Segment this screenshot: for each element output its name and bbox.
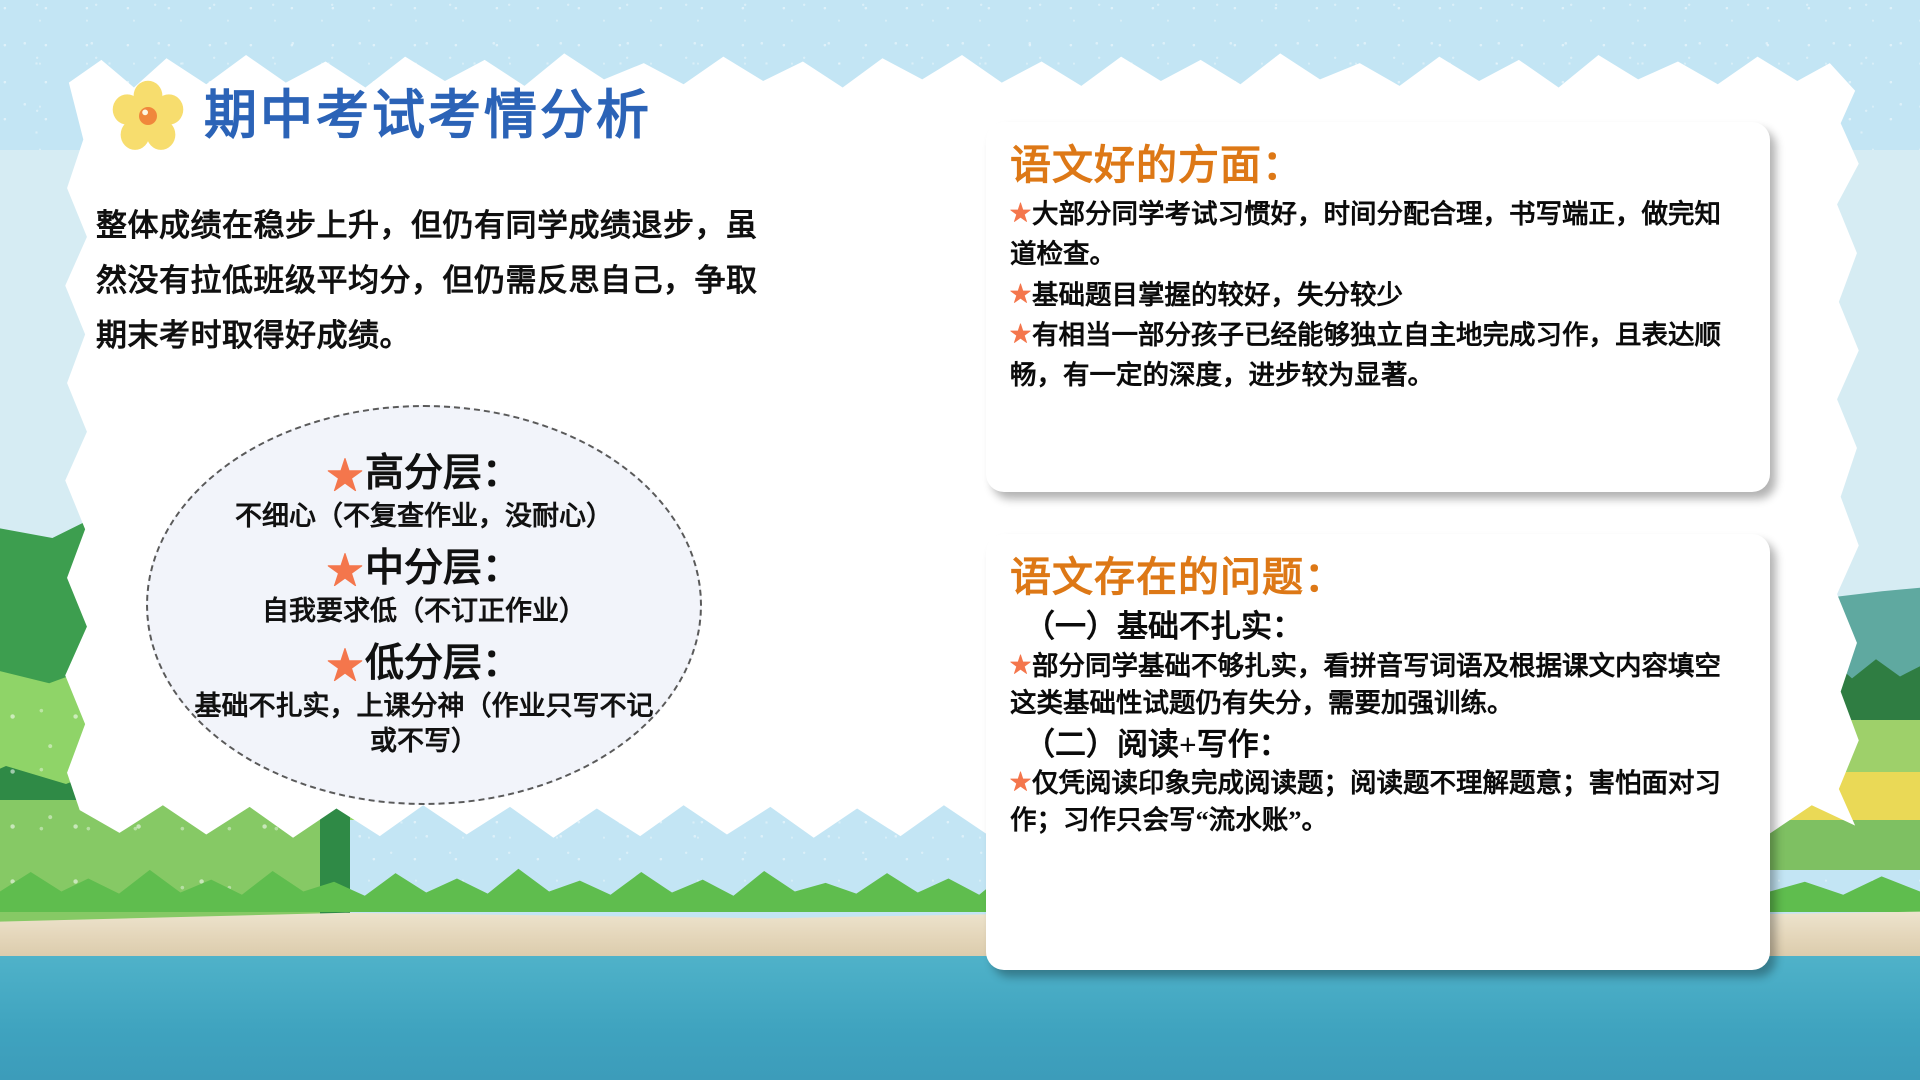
tier-desc-low: 基础不扎实，上课分神（作业只写不记或不写）: [189, 689, 659, 759]
card-strengths: 语文好的方面： ★大部分同学考试习惯好，时间分配合理，书写端正，做完知道检查。 …: [986, 122, 1770, 492]
star-icon: ★: [327, 553, 363, 589]
bullet-strengths-2: ★基础题目掌握的较好，失分较少: [1010, 275, 1744, 315]
bullet-text: 基础题目掌握的较好，失分较少: [1032, 280, 1403, 310]
subsection-heading-1: （一）基础不扎实：: [1010, 606, 1744, 648]
tier-desc-high: 不细心（不复查作业，没耐心）: [235, 499, 613, 534]
star-icon: ★: [1010, 770, 1031, 794]
tier-heading-high: ★ 高分层：: [327, 451, 521, 497]
bullet-text: 大部分同学考试习惯好，时间分配合理，书写端正，做完知道检查。: [1010, 199, 1721, 269]
star-icon: ★: [1010, 322, 1031, 346]
tier-heading-label: 高分层：: [365, 451, 521, 497]
bullet-strengths-3: ★有相当一部分孩子已经能够独立自主地完成习作，且表达顺畅，有一定的深度，进步较为…: [1010, 315, 1744, 396]
tier-heading-low: ★ 低分层：: [327, 641, 521, 687]
star-icon: ★: [1010, 201, 1031, 225]
bullet-text: 有相当一部分孩子已经能够独立自主地完成习作，且表达顺畅，有一定的深度，进步较为显…: [1010, 320, 1721, 390]
tier-heading-label: 中分层：: [365, 546, 521, 592]
bullet-text: 仅凭阅读印象完成阅读题；阅读题不理解题意；害怕面对习作；习作只会写“流水账”。: [1010, 768, 1721, 835]
score-tier-ellipse: ★ 高分层： 不细心（不复查作业，没耐心） ★ 中分层： 自我要求低（不订正作业…: [146, 405, 702, 805]
bullet-text: 部分同学基础不够扎实，看拼音写词语及根据课文内容填空这类基础性试题仍有失分，需要…: [1010, 651, 1721, 718]
bullet-problems-1: ★部分同学基础不够扎实，看拼音写词语及根据课文内容填空这类基础性试题仍有失分，需…: [1010, 648, 1744, 722]
card-problems: 语文存在的问题： （一）基础不扎实： ★部分同学基础不够扎实，看拼音写词语及根据…: [986, 534, 1770, 970]
star-icon: ★: [1010, 653, 1031, 677]
water-band: [0, 956, 1920, 1080]
intro-paragraph: 整体成绩在稳步上升，但仍有同学成绩退步，虽然没有拉低班级平均分，但仍需反思自己，…: [96, 198, 766, 364]
tier-heading-mid: ★ 中分层：: [327, 546, 521, 592]
star-icon: ★: [327, 458, 363, 494]
star-icon: ★: [1010, 282, 1031, 306]
tier-desc-mid: 自我要求低（不订正作业）: [262, 594, 586, 629]
bullet-problems-2: ★仅凭阅读印象完成阅读题；阅读题不理解题意；害怕面对习作；习作只会写“流水账”。: [1010, 765, 1744, 839]
title-row: 期中考试考情分析: [112, 80, 652, 152]
star-icon: ★: [327, 648, 363, 684]
card-title-problems: 语文存在的问题：: [1010, 552, 1744, 602]
page-title: 期中考试考情分析: [204, 90, 652, 143]
flower-icon: [112, 80, 184, 152]
subsection-heading-2: （二）阅读+写作：: [1010, 724, 1744, 766]
bullet-strengths-1: ★大部分同学考试习惯好，时间分配合理，书写端正，做完知道检查。: [1010, 194, 1744, 275]
slide-canvas: 期中考试考情分析 整体成绩在稳步上升，但仍有同学成绩退步，虽然没有拉低班级平均分…: [0, 0, 1920, 1080]
card-title-strengths: 语文好的方面：: [1010, 140, 1744, 190]
tier-heading-label: 低分层：: [365, 641, 521, 687]
